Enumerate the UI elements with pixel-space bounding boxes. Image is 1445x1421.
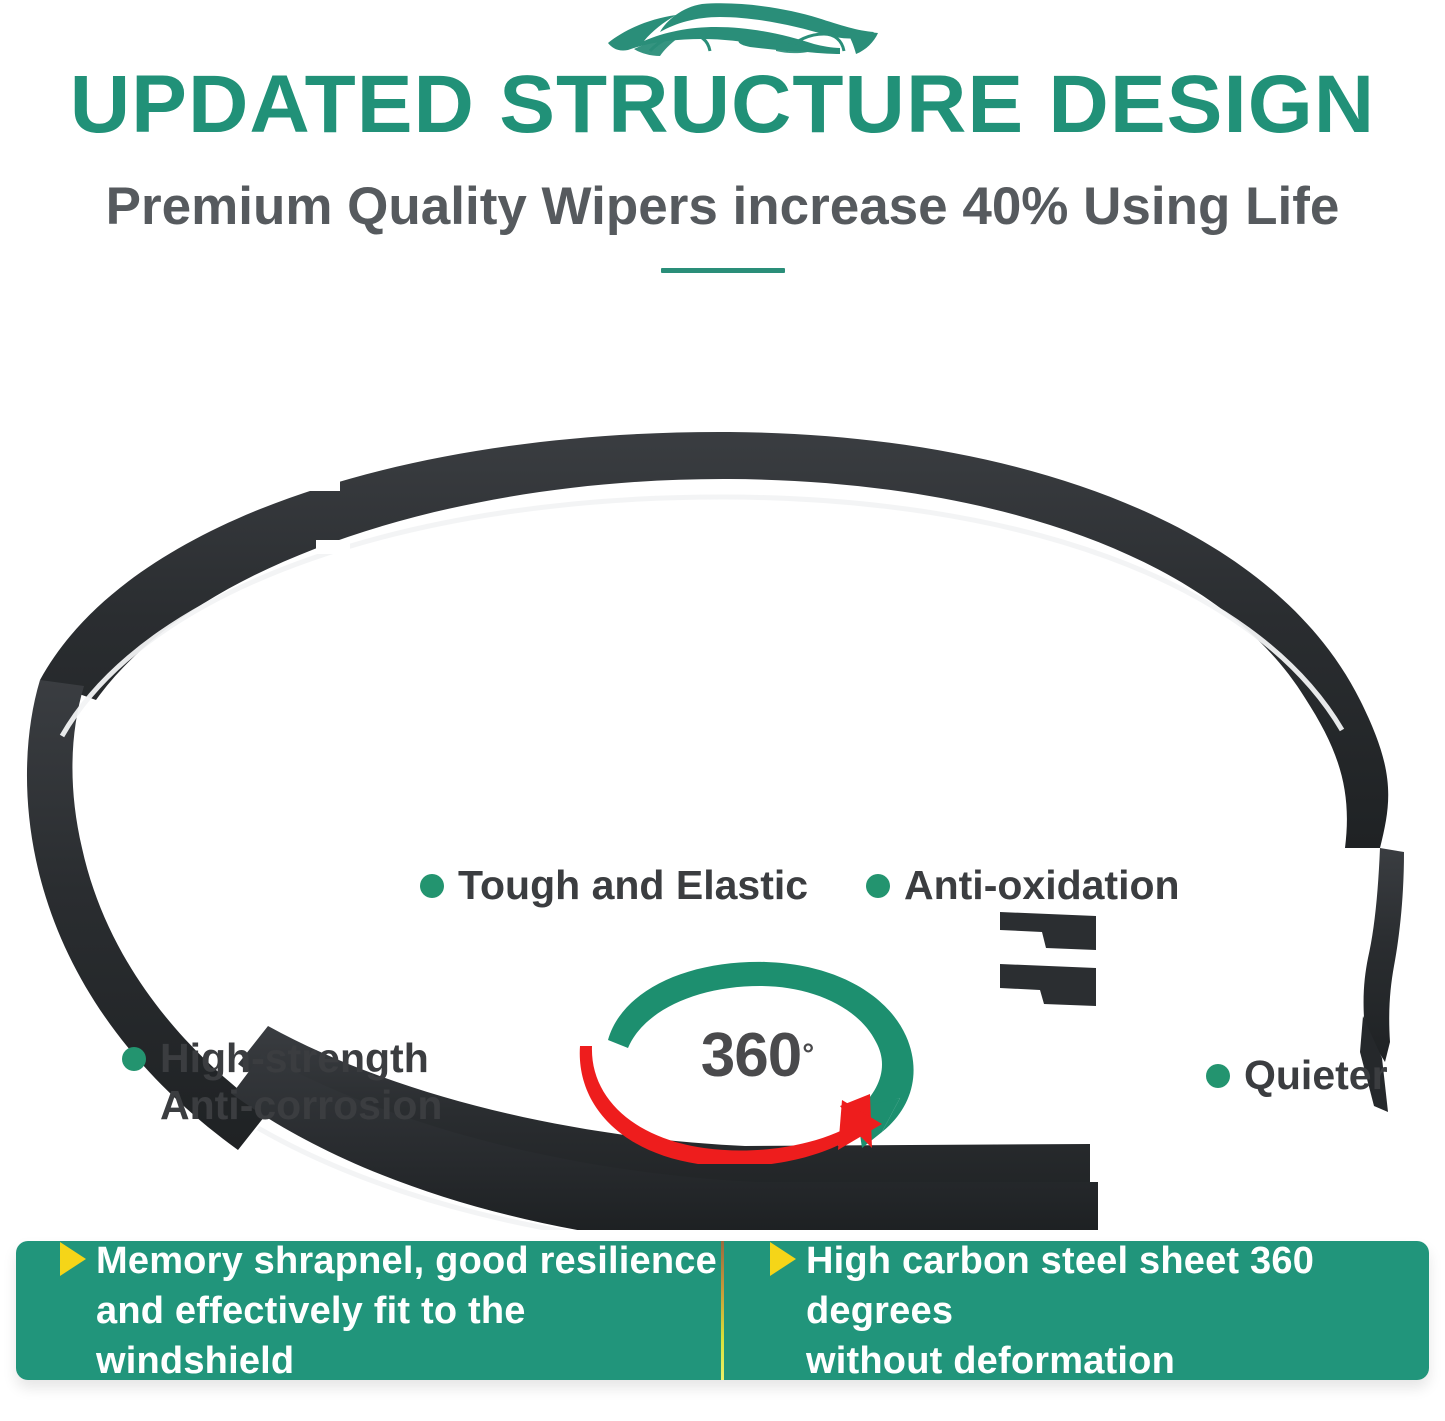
car-silhouette-icon <box>590 2 880 58</box>
bottom-feature-line2: without deformation <box>806 1340 1175 1381</box>
bullet-dot-icon <box>1206 1064 1230 1088</box>
bullet-dot-icon <box>122 1047 146 1071</box>
feature-high-strength-anti-corrosion: High-strength Anti-corrosion <box>122 1035 442 1129</box>
page-title: UPDATED STRUCTURE DESIGN <box>0 62 1445 148</box>
feature-anti-oxidation: Anti-oxidation <box>866 862 1180 909</box>
product-stage: 360° Tough and Elastic Anti-oxidation Hi… <box>0 300 1445 1230</box>
feature-label: Tough and Elastic <box>458 862 808 909</box>
bottom-feature-line2: and effectively fit to the windshield <box>96 1290 526 1381</box>
header: UPDATED STRUCTURE DESIGN Premium Quality… <box>0 0 1445 300</box>
feature-label: Quieter <box>1244 1052 1388 1099</box>
360-value: 360° <box>570 948 922 1164</box>
360-degree-badge: 360° <box>570 948 922 1164</box>
bottom-feature-line1: Memory shrapnel, good resilience <box>96 1241 717 1282</box>
feature-tough-and-elastic: Tough and Elastic <box>420 862 808 909</box>
bullet-dot-icon <box>420 874 444 898</box>
page-subtitle: Premium Quality Wipers increase 40% Usin… <box>0 176 1445 238</box>
bottom-feature-right: High carbon steel sheet 360 degrees with… <box>724 1241 1429 1380</box>
bottom-feature-line1: High carbon steel sheet 360 degrees <box>806 1241 1314 1332</box>
feature-label-line2: Anti-corrosion <box>160 1082 442 1128</box>
triangle-bullet-icon <box>60 1242 86 1276</box>
feature-label: High-strength <box>160 1035 429 1081</box>
bullet-dot-icon <box>866 874 890 898</box>
360-number: 360 <box>701 1020 801 1091</box>
bottom-feature-left: Memory shrapnel, good resilience and eff… <box>16 1241 721 1380</box>
feature-label: Anti-oxidation <box>904 862 1180 909</box>
triangle-bullet-icon <box>770 1242 796 1276</box>
title-divider <box>661 268 785 273</box>
bottom-feature-bar: Memory shrapnel, good resilience and eff… <box>16 1241 1429 1380</box>
feature-quieter: Quieter <box>1206 1052 1388 1099</box>
